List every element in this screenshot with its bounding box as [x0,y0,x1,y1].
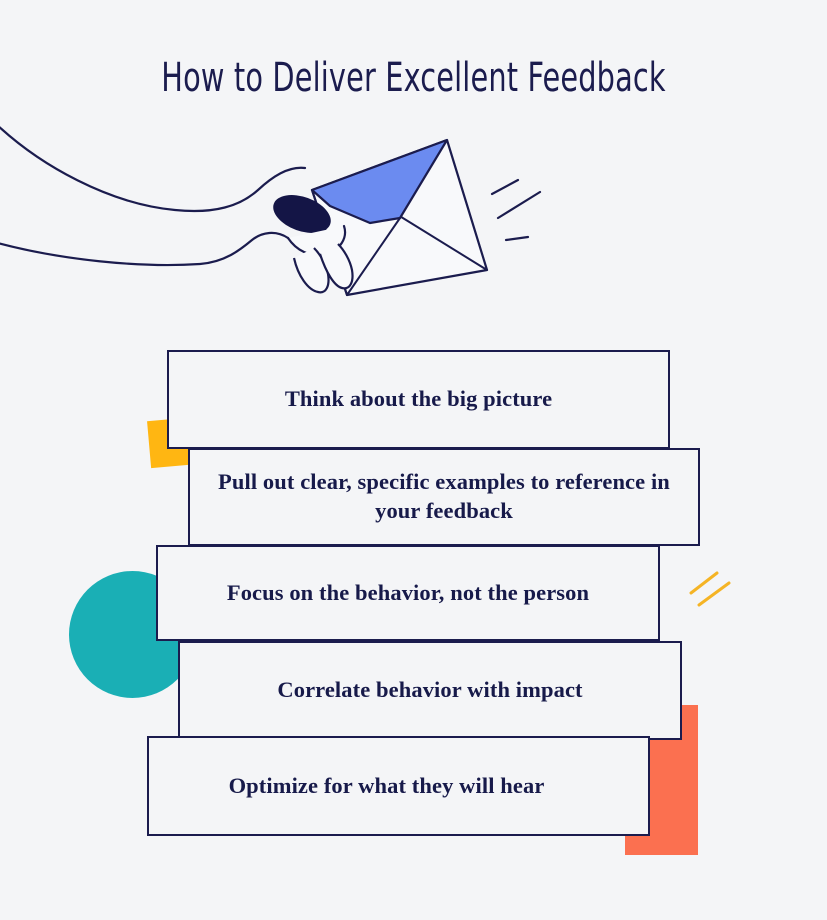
step-box-3[interactable]: Focus on the behavior, not the person [156,545,660,641]
step-label-5: Optimize for what they will hear [213,772,561,801]
arm-lines [0,122,305,265]
infographic-canvas: How to Deliver Excellent Feedback [0,0,827,920]
speed-lines [492,180,540,240]
step-label-1: Think about the big picture [269,385,568,414]
page-title: How to Deliver Excellent Feedback [83,55,745,101]
step-label-4: Correlate behavior with impact [261,676,598,705]
yellow-diagonal-lines-decoration [685,565,745,615]
step-label-2: Pull out clear, specific examples to ref… [190,468,698,526]
step-box-1[interactable]: Think about the big picture [167,350,670,449]
step-box-5[interactable]: Optimize for what they will hear [147,736,650,836]
step-label-3: Focus on the behavior, not the person [211,579,605,608]
step-box-2[interactable]: Pull out clear, specific examples to ref… [188,448,700,546]
step-box-4[interactable]: Correlate behavior with impact [178,641,682,740]
hand-holding-envelope-illustration [0,118,560,318]
